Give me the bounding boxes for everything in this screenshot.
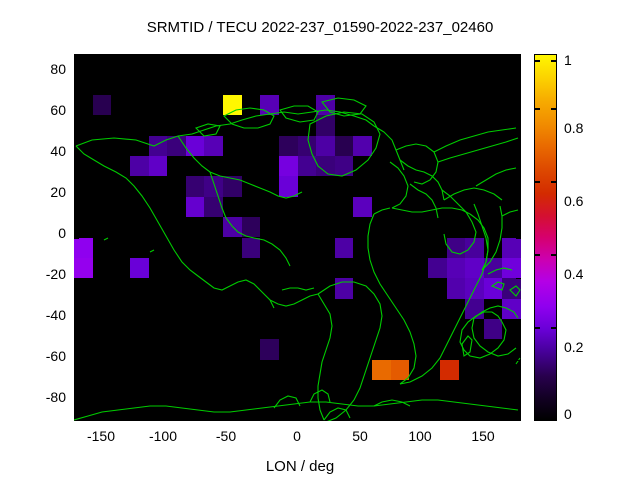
x-tick-mark — [484, 416, 485, 421]
x-tick-mark — [484, 54, 485, 59]
xtick-label-neg50: -50 — [206, 428, 246, 444]
x-tick-mark — [422, 54, 423, 59]
x-tick-mark — [360, 416, 361, 421]
colorbar-tick-0_6-right — [551, 181, 557, 183]
y-tick-mark — [74, 115, 79, 116]
xtick-label-150: 150 — [463, 428, 503, 444]
colorbar-tick-0_4-left — [534, 254, 540, 256]
colorbar-label-0: 0 — [564, 406, 572, 422]
x-tick-mark — [298, 54, 299, 59]
y-tick-mark — [74, 319, 79, 320]
x-tick-mark — [235, 416, 236, 421]
ytick-label-0: 0 — [58, 225, 66, 241]
y-tick-mark — [74, 360, 79, 361]
y-tick-mark — [74, 401, 79, 402]
colorbar-tick-0_8-left — [534, 108, 540, 110]
ytick-label-80: 80 — [50, 61, 66, 77]
x-tick-mark — [360, 54, 361, 59]
ytick-label-neg60: -60 — [46, 348, 66, 364]
colorbar-tick-0_2-left — [534, 327, 540, 329]
y-tick-mark — [516, 115, 521, 116]
colorbar-label-0_6: 0.6 — [564, 193, 583, 209]
y-tick-mark — [74, 238, 79, 239]
x-tick-mark — [298, 416, 299, 421]
page-title: SRMTID / TECU 2022-237_01590-2022-237_02… — [0, 19, 640, 36]
colorbar-tick-0_4-right — [551, 254, 557, 256]
x-tick-mark — [422, 416, 423, 421]
colorbar-tick-0_2-right — [551, 327, 557, 329]
ytick-label-60: 60 — [50, 102, 66, 118]
xtick-label-0: 0 — [277, 428, 317, 444]
ytick-label-20: 20 — [50, 184, 66, 200]
colorbar[interactable]: 1 0.8 0.6 0.4 0.2 0 — [534, 54, 557, 421]
y-tick-mark — [74, 156, 79, 157]
figure-root: SRMTID / TECU 2022-237_01590-2022-237_02… — [0, 0, 640, 480]
ytick-label-neg80: -80 — [46, 389, 66, 405]
y-tick-mark — [516, 401, 521, 402]
colorbar-label-0_8: 0.8 — [564, 120, 583, 136]
y-tick-mark — [516, 197, 521, 198]
x-tick-mark — [111, 416, 112, 421]
colorbar-tick-0_6-left — [534, 181, 540, 183]
colorbar-label-0_4: 0.4 — [564, 266, 583, 282]
coastline-overlay — [74, 54, 521, 421]
y-tick-mark — [516, 319, 521, 320]
y-tick-mark — [516, 278, 521, 279]
xtick-label-50: 50 — [340, 428, 380, 444]
ytick-label-40: 40 — [50, 143, 66, 159]
y-tick-mark — [516, 74, 521, 75]
colorbar-label-1: 1 — [564, 52, 572, 68]
y-tick-mark — [516, 360, 521, 361]
ytick-label-neg40: -40 — [46, 307, 66, 323]
x-tick-mark — [111, 54, 112, 59]
xtick-label-neg100: -100 — [143, 428, 183, 444]
x-tick-mark — [173, 416, 174, 421]
heatmap-plot-area[interactable] — [74, 54, 521, 421]
x-tick-mark — [235, 54, 236, 59]
y-tick-mark — [74, 197, 79, 198]
colorbar-tick-0_8-right — [551, 108, 557, 110]
colorbar-label-0_2: 0.2 — [564, 339, 583, 355]
y-tick-mark — [516, 156, 521, 157]
xtick-label-neg150: -150 — [81, 428, 121, 444]
y-tick-mark — [74, 278, 79, 279]
colorbar-tick-1-left — [534, 60, 540, 62]
colorbar-tick-1-right — [551, 60, 557, 62]
x-axis-title: LON / deg — [0, 458, 600, 475]
ytick-label-neg20: -20 — [46, 266, 66, 282]
x-tick-mark — [173, 54, 174, 59]
y-tick-mark — [516, 238, 521, 239]
xtick-label-100: 100 — [400, 428, 440, 444]
y-tick-mark — [74, 74, 79, 75]
